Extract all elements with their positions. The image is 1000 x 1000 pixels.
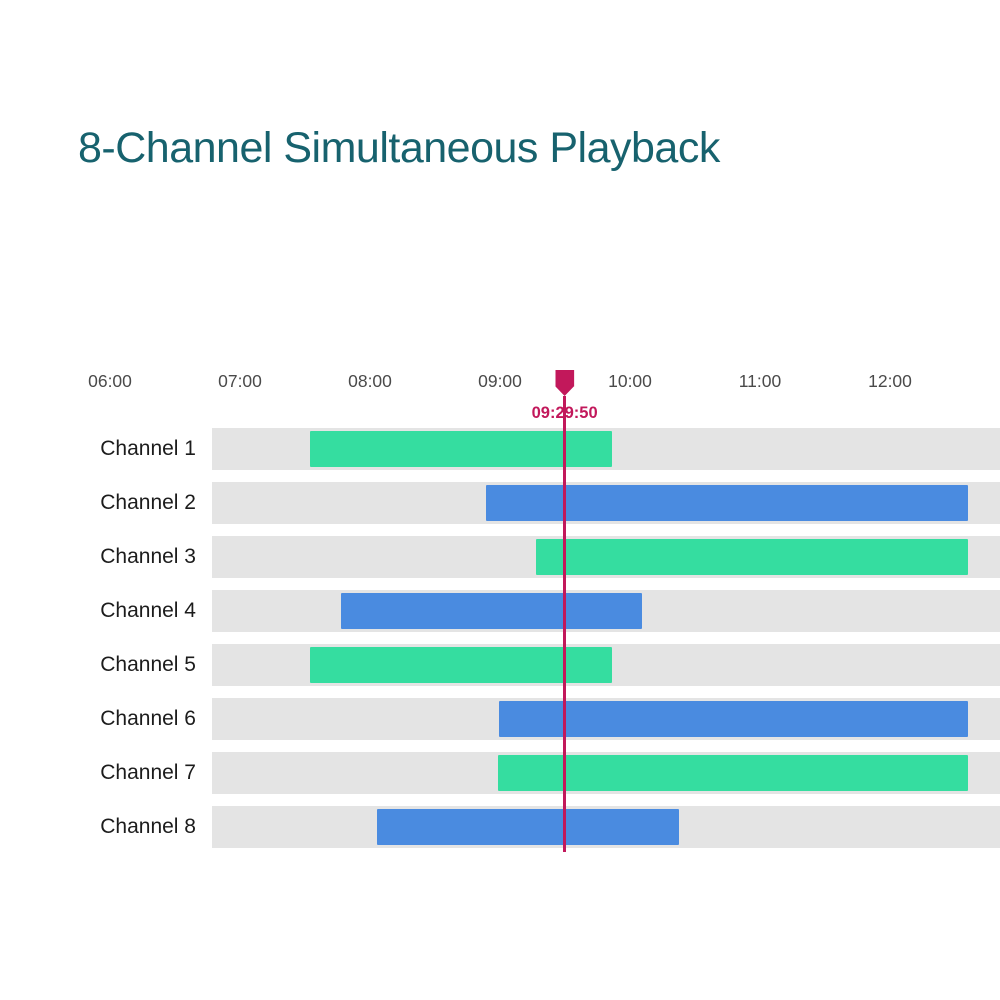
clip-segment-channel-2[interactable] xyxy=(486,485,968,521)
timeline-viewer: 8-Channel Simultaneous Playback 06:0007:… xyxy=(0,0,1000,1000)
axis-tick-label: 06:00 xyxy=(88,371,132,392)
playhead-line[interactable] xyxy=(563,396,566,852)
channel-label-4: Channel 4 xyxy=(100,599,196,623)
clip-segment-channel-6[interactable] xyxy=(499,701,968,737)
channel-label-2: Channel 2 xyxy=(100,491,196,515)
axis-tick-label: 07:00 xyxy=(218,371,262,392)
playhead-marker-icon[interactable] xyxy=(555,370,574,396)
playhead-time-label: 09:29:50 xyxy=(532,404,598,423)
axis-tick-label: 12:00 xyxy=(868,371,912,392)
channel-label-7: Channel 7 xyxy=(100,761,196,785)
axis-tick-label: 11:00 xyxy=(739,371,782,392)
clip-segment-channel-5[interactable] xyxy=(310,647,612,683)
clip-segment-channel-4[interactable] xyxy=(341,593,642,629)
channel-label-1: Channel 1 xyxy=(100,437,196,461)
clip-segment-channel-8[interactable] xyxy=(377,809,679,845)
channel-label-5: Channel 5 xyxy=(100,653,196,677)
axis-tick-label: 09:00 xyxy=(478,371,522,392)
axis-tick-label: 08:00 xyxy=(348,371,392,392)
channel-label-3: Channel 3 xyxy=(100,545,196,569)
channel-label-8: Channel 8 xyxy=(100,815,196,839)
axis-tick-label: 10:00 xyxy=(608,371,652,392)
clip-segment-channel-1[interactable] xyxy=(310,431,612,467)
clip-segment-channel-7[interactable] xyxy=(498,755,968,791)
timeline-canvas[interactable]: 06:0007:0008:0009:0010:0011:0012:00Chann… xyxy=(0,0,1000,1000)
channel-label-6: Channel 6 xyxy=(100,707,196,731)
clip-segment-channel-3[interactable] xyxy=(536,539,968,575)
